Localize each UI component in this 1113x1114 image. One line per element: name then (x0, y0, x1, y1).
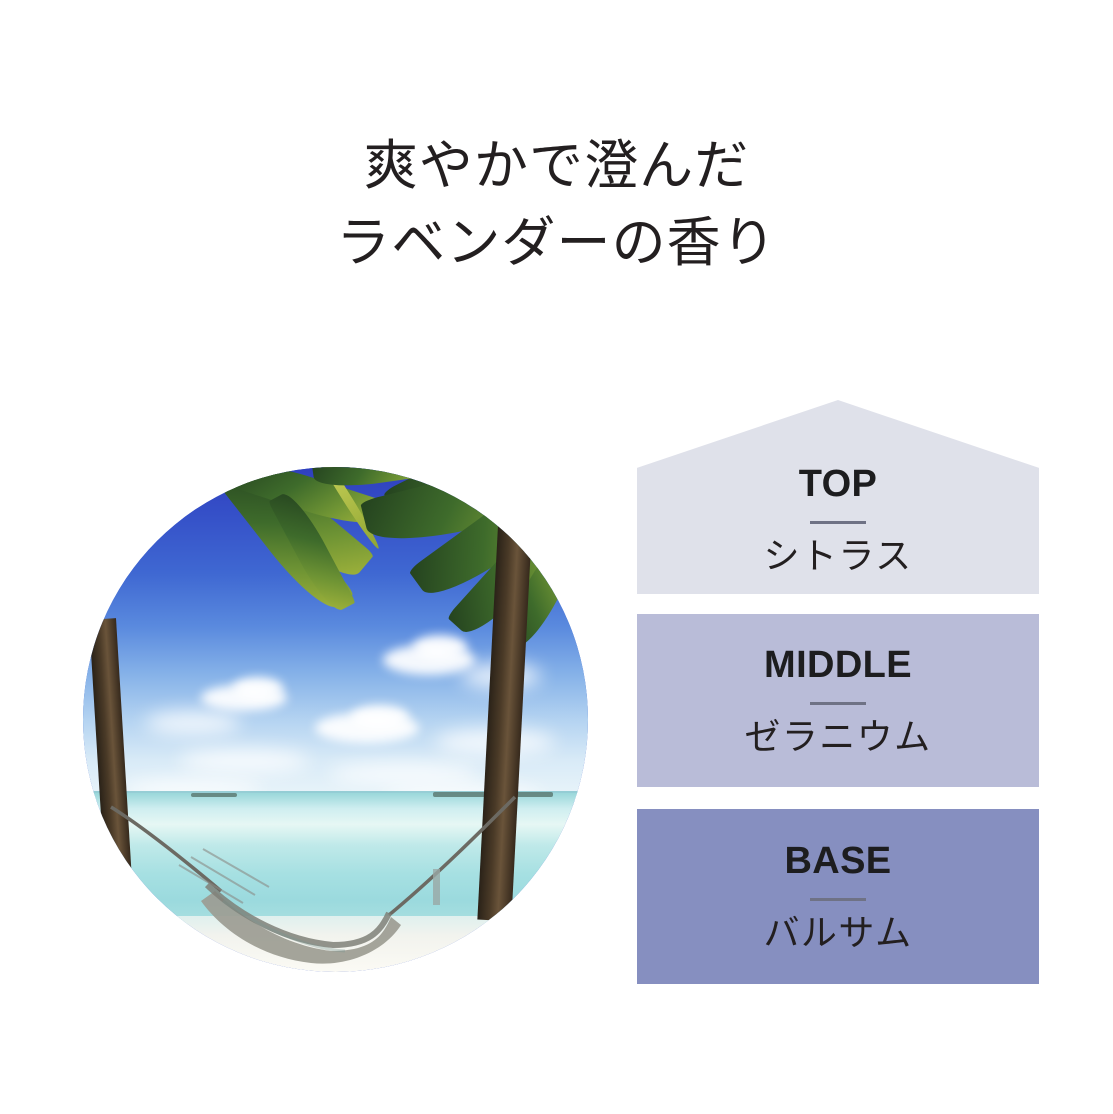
scent-band-middle: MIDDLE ゼラニウム (637, 614, 1039, 787)
scent-band-middle-divider (810, 702, 866, 705)
page-title: 爽やかで澄んだ ラベンダーの香り (0, 128, 1113, 281)
scent-band-base-divider (810, 898, 866, 901)
scent-band-middle-note: ゼラニウム (744, 719, 931, 755)
tropical-beach-photo (83, 467, 588, 972)
scent-pyramid: TOP シトラス MIDDLE ゼラニウム BASE バルサム (637, 400, 1039, 984)
scent-band-top-note: シトラス (763, 538, 912, 574)
hammock (83, 467, 588, 972)
page-title-line-2: ラベンダーの香り (0, 205, 1113, 282)
scent-band-middle-name: MIDDLE (764, 646, 912, 684)
scent-band-top-divider (810, 521, 866, 524)
scent-band-base: BASE バルサム (637, 809, 1039, 984)
scent-band-top: TOP シトラス (637, 400, 1039, 594)
page-title-line-1: 爽やかで澄んだ (0, 128, 1113, 205)
scent-band-base-note: バルサム (763, 915, 912, 951)
scent-band-base-name: BASE (784, 842, 891, 880)
photo-scene (83, 467, 588, 972)
scent-band-top-name: TOP (799, 465, 878, 503)
